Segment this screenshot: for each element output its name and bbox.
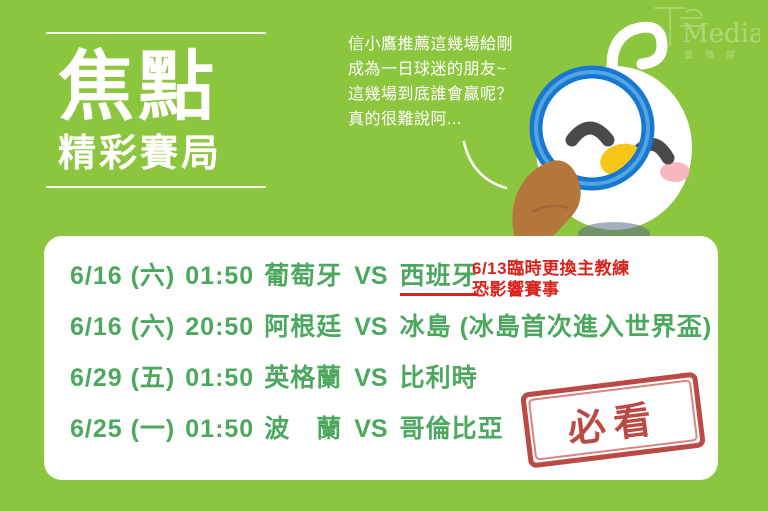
match-vs-label: VS	[354, 415, 387, 444]
match-time: 01:50	[185, 262, 254, 291]
watermark-text: Media	[682, 19, 760, 49]
match-team-a: 英格蘭	[264, 358, 342, 394]
annotation-line-2: 恐影響賽事	[472, 279, 630, 300]
speech-bubble-text: 信小鷹推薦這幾場給剛 成為一日球迷的朋友~ 這幾場到底誰會贏呢？ 真的很難說阿.…	[348, 32, 566, 132]
page-title: 焦點	[58, 46, 266, 130]
match-time: 20:50	[185, 313, 254, 342]
match-date: 6/29 (五)	[70, 358, 175, 394]
coach-change-annotation: 6/13臨時更換主教練 恐影響賽事	[472, 258, 630, 300]
match-vs-label: VS	[354, 313, 387, 342]
match-date: 6/25 (一)	[70, 409, 175, 445]
match-team-b: 西班牙	[400, 256, 478, 296]
match-team-b: 冰島	[400, 307, 452, 343]
title-block: 焦點 精彩賽局	[46, 32, 266, 188]
match-time: 01:50	[185, 415, 254, 444]
speech-line-1: 信小鷹推薦這幾場給剛	[348, 32, 566, 57]
match-team-a: 波 蘭	[264, 409, 342, 445]
tcmedia-logo-watermark: Media 藝博媒	[640, 2, 760, 64]
table-row[interactable]: 6/16 (六) 20:50 阿根廷 VS 冰島 (冰島首次進入世界盃)	[70, 307, 706, 358]
speech-line-4: 真的很難說阿...	[348, 107, 566, 132]
match-date: 6/16 (六)	[70, 256, 175, 292]
match-vs-label: VS	[354, 364, 387, 393]
match-date: 6/16 (六)	[70, 307, 175, 343]
match-team-b: 哥倫比亞	[400, 409, 504, 445]
match-team-b: 比利時	[400, 358, 478, 394]
match-note: (冰島首次進入世界盃)	[460, 307, 713, 343]
match-team-a: 葡萄牙	[264, 256, 342, 292]
match-vs-label: VS	[354, 262, 387, 291]
page-subtitle: 精彩賽局	[58, 132, 266, 176]
title-rule-bottom	[46, 186, 266, 188]
speech-line-2: 成為一日球迷的朋友~	[348, 57, 566, 82]
annotation-line-1: 6/13臨時更換主教練	[472, 258, 630, 279]
match-time: 01:50	[185, 364, 254, 393]
watermark-subtext: 藝博媒	[684, 49, 747, 61]
speech-line-3: 這幾場到底誰會贏呢？	[348, 82, 566, 107]
title-rule-top	[46, 32, 266, 34]
poster-root: Media 藝博媒 焦點 精彩賽局 信小鷹推薦這幾場給剛 成為一日球迷的朋友~ …	[0, 0, 768, 511]
speech-bubble-tail-icon	[462, 138, 522, 198]
match-team-a: 阿根廷	[264, 307, 342, 343]
